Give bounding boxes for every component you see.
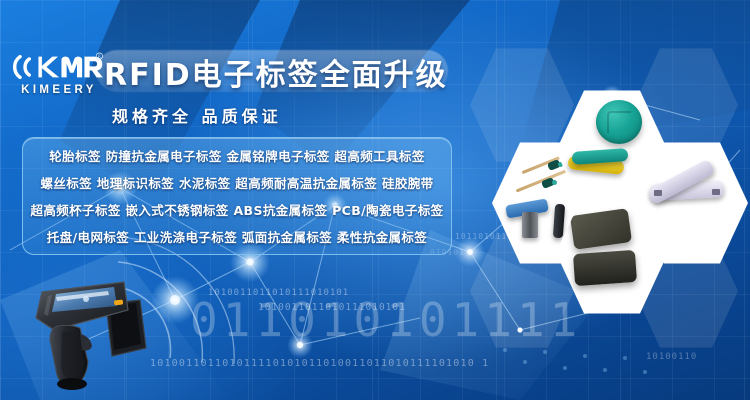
binary-text-4: 1010011011010111101010110100110110101111…	[150, 358, 489, 369]
tag-list-row: 托盘/电网标签 工业洗涤电子标签 弧面抗金属标签 柔性抗金属标签	[23, 227, 451, 246]
wordmark: KIMEERY	[12, 84, 104, 96]
binary-text-5: 10100110	[646, 352, 697, 362]
dark-rect-tag	[570, 208, 632, 250]
dark-rect-tag	[573, 250, 637, 286]
tag-list-row: 超高频杯子标签 嵌入式不锈钢标签 ABS抗金属标签 PCB/陶瓷电子标签	[23, 200, 451, 219]
tag-list-row: 轮胎标签 防撞抗金属电子标签 金属铭牌电子标签 超高频工具标签	[23, 146, 451, 165]
kimeery-logo: R KIMEERY	[12, 52, 104, 104]
tag-list-row: 螺丝标签 地理标识标签 水泥标签 超高频耐高温抗金属标签 硅胶腕带	[23, 173, 451, 192]
handheld-rfid-reader	[28, 270, 168, 392]
page-subtitle: 规格齐全 品质保证	[112, 103, 282, 127]
page-title: RFID电子标签全面升级	[104, 52, 448, 92]
teal-disc-tag	[596, 100, 642, 144]
tag-list-panel: 轮胎标签 防撞抗金属电子标签 金属铭牌电子标签 超高频工具标签 螺丝标签 地理标…	[22, 137, 452, 255]
rfid-promo-banner: 1010011011010111010101 10100110110101110…	[0, 0, 750, 400]
kmr-logo-icon: R	[12, 52, 104, 82]
black-bar-tag	[553, 204, 565, 239]
